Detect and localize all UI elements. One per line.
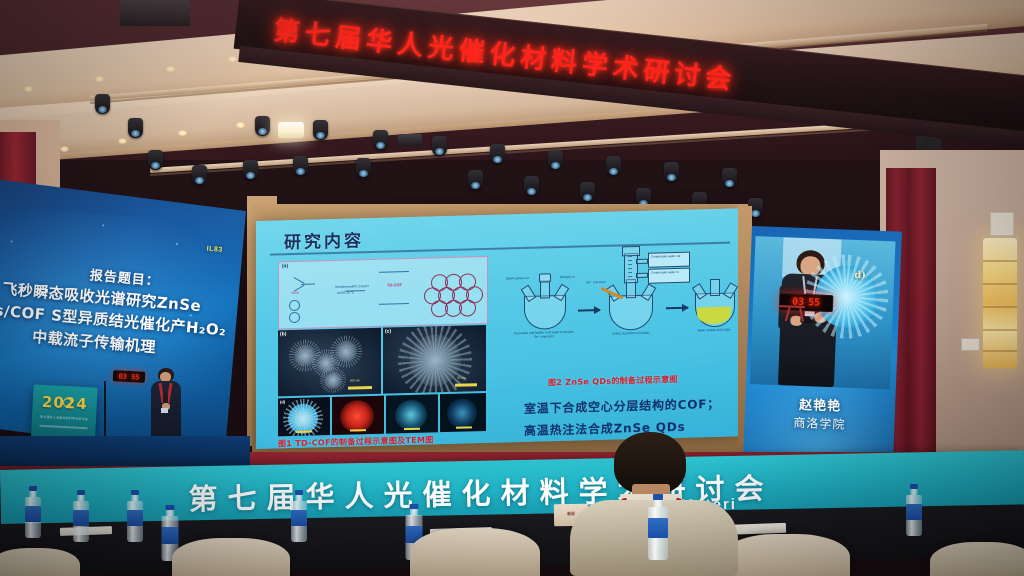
moving-head-light — [524, 176, 539, 196]
screen-particle — [102, 224, 104, 226]
moving-head-light — [128, 118, 143, 138]
bottle-label — [291, 510, 307, 526]
scheme-label-znno3-mpa: ZnNO₃ and MPA in DI water — [600, 331, 662, 336]
bottle-label — [161, 527, 178, 544]
figure-panel-d-map-c — [332, 396, 384, 435]
figure-panel-a: (a) TAPB Solvothermal/RT, CH₃CN AcOH, 25… — [278, 256, 488, 329]
moving-head-light — [606, 156, 621, 176]
moving-head-light — [373, 130, 388, 150]
efmap-scale-bar — [296, 431, 312, 433]
water-bottle-foreground — [647, 494, 669, 560]
sconce-segment — [983, 260, 1017, 262]
scheme-tag-water-in: Condensate water in — [648, 268, 690, 284]
condenser-top-joint — [622, 246, 640, 256]
bottle-label — [127, 510, 143, 526]
efmap-blue-channel — [447, 398, 477, 428]
downlight — [118, 138, 127, 144]
flask-neck-right-2 — [641, 283, 657, 300]
tem-nanoparticle-large — [409, 334, 461, 387]
condenser-outlet-upper — [636, 259, 648, 264]
bottle-label — [25, 506, 41, 522]
product-flask-neck-center — [710, 279, 720, 296]
flask-neck-center-1 — [540, 280, 550, 298]
scheme-tag-water-out: Condensate water out — [648, 252, 690, 268]
moving-head-light — [468, 170, 483, 190]
wall-panel-upper — [990, 212, 1014, 236]
scheme-label-water-in: Condensate water in — [651, 271, 687, 276]
audience-chair — [0, 548, 80, 576]
scheme-conditions: Solvothermal/RT, CH₃CN — [335, 284, 369, 289]
right-led-screen: d) 03 55 赵艳艳 商洛学院 — [743, 226, 902, 460]
bottle-label — [906, 504, 922, 520]
moving-head-light — [664, 162, 679, 182]
sconce-segment — [983, 306, 1017, 308]
panel-label-c: (c) — [385, 328, 391, 334]
video-slide-corner-mark: d) — [854, 270, 866, 281]
presentation-slide-screen: 研究内容 (a) TAPB Solvothermal/RT, CH₃CN AcO… — [256, 208, 742, 449]
audience-chair — [930, 542, 1024, 576]
scheme-text-left: TAPB — [291, 291, 299, 295]
scheme-arrow-2 — [666, 307, 688, 310]
moving-head-light — [243, 160, 258, 180]
moving-head-light — [580, 182, 595, 202]
stage-countdown-mini: 03 55 — [113, 370, 146, 383]
stage-flood-light — [278, 122, 304, 138]
moving-head-light — [192, 165, 207, 185]
scheme-label-se-precursor: Se powder and NaBH₄ in DI water to prepa… — [511, 331, 577, 340]
figure-panel-d: (d) — [278, 397, 330, 436]
presenter-badge — [161, 408, 168, 413]
scheme-label-gas-out: Opens gases out — [506, 276, 529, 281]
sconce-segment — [983, 350, 1017, 352]
tem-scale-bar — [455, 383, 477, 387]
stage-light-bar — [398, 134, 422, 146]
scheme-label-water-out: Condensate water out — [651, 255, 687, 260]
screen-particle — [176, 243, 178, 245]
scheme-label-nitrogen-in: Nitrogen in — [560, 275, 575, 279]
bottle-label — [73, 510, 89, 526]
downlight — [236, 122, 245, 128]
efmap-particle-sem — [288, 403, 318, 434]
molecule-bond — [379, 271, 409, 273]
scheme-label-se-injection: Se²⁻ precursor — [586, 280, 606, 285]
tem-nanoparticle — [324, 371, 342, 389]
scheme-center-label: TD-COF — [387, 282, 402, 287]
figure-panel-b: (b) 500 nm — [278, 328, 381, 397]
live-video-feed: d) — [750, 236, 896, 389]
flask-stopper-1 — [539, 273, 551, 282]
condenser-inlet-lower — [636, 273, 648, 278]
wall-outlet-plate — [961, 338, 980, 351]
tem-scale-label: 500 nm — [350, 378, 360, 382]
water-bottle — [24, 486, 42, 538]
countdown-seconds: 55 — [808, 297, 820, 308]
tem-scale-bar — [348, 386, 372, 390]
panel-label-a: (a) — [282, 263, 288, 269]
molecule-ring — [289, 312, 300, 323]
sconce-segment — [983, 283, 1017, 285]
figure-panel-c: (c) 50 nm — [383, 325, 486, 394]
tem-scale-label: 50 nm — [457, 376, 465, 380]
screen-particle — [10, 240, 12, 242]
slide-bullet-0: 室温下合成空心分层结构的COF； — [524, 395, 720, 417]
moving-head-light — [313, 120, 328, 140]
downlight — [178, 130, 187, 136]
conference-hall-photo: 第七届华人光催化材料学术研讨会 IL83 报告题目： 飞秒瞬态吸收光谱研究ZnS… — [0, 0, 1024, 576]
moving-head-light — [356, 158, 371, 178]
tem-nanoparticle — [335, 340, 357, 363]
cof-framework-ring — [459, 299, 476, 316]
stage-countdown-mini-text: 03 55 — [118, 372, 139, 381]
panel-label-b: (b) — [280, 331, 286, 337]
podium-accent-stripe — [40, 425, 88, 430]
molecule-bond — [294, 277, 305, 284]
moving-head-light — [148, 150, 163, 170]
moving-head-light — [548, 150, 563, 170]
moving-head-light — [293, 156, 308, 176]
slide-title: 研究内容 — [284, 226, 364, 253]
efmap-scale-bar — [456, 426, 472, 428]
moving-head-light — [722, 168, 737, 188]
sconce-segment — [983, 329, 1017, 331]
molecule-bond — [301, 283, 315, 284]
left-screen-corner-label: IL83 — [206, 246, 223, 254]
figure-panel-d-map-se — [440, 393, 486, 432]
condenser-inner-coil — [628, 256, 632, 278]
figure-panel-d-map-zn — [386, 394, 438, 433]
moving-head-light — [95, 94, 110, 114]
downlight — [24, 86, 33, 92]
downlight — [228, 56, 237, 62]
moving-head-light — [432, 136, 447, 156]
crystal-wall-sconce — [983, 238, 1017, 368]
scheme-label-znse-qds: Water soluble ZnSe QDs — [689, 328, 739, 333]
moving-head-light — [490, 144, 505, 164]
podium-subtext: 第七届华人光催化材料学术研讨会 — [32, 414, 96, 421]
flask-neck-right-1 — [554, 284, 570, 301]
efmap-red-channel — [340, 400, 374, 433]
scheme-conditions-2: AcOH, 25 °C — [337, 290, 354, 294]
downlight — [166, 66, 175, 72]
synthesis-scheme-figure2: Opens gases out Nitrogen in Se powder an… — [508, 254, 734, 375]
figure2-caption: 图2 ZnSe QDs的制备过程示意图 — [548, 374, 678, 388]
efmap-scale-bar — [350, 429, 366, 431]
water-bottle — [126, 490, 144, 542]
efmap-scale-bar — [404, 428, 420, 430]
stage-backwall-lower — [0, 436, 250, 466]
water-bottle — [290, 490, 308, 542]
water-bottle — [72, 490, 90, 542]
efmap-cyan-channel — [395, 400, 427, 431]
ceiling-speaker-box-1 — [120, 0, 190, 26]
bottle-label — [648, 518, 668, 538]
molecule-bond — [379, 303, 409, 305]
downlight — [95, 76, 104, 82]
downlight — [60, 146, 69, 152]
bottle-neck — [654, 500, 663, 507]
scheme-arrow-1 — [578, 309, 600, 312]
audience-chair — [172, 538, 290, 576]
molecule-ring — [289, 300, 300, 311]
moving-head-light — [255, 116, 270, 136]
water-bottle — [905, 484, 923, 536]
panel-label-d: (d) — [280, 399, 285, 404]
audience-chair — [410, 528, 540, 576]
